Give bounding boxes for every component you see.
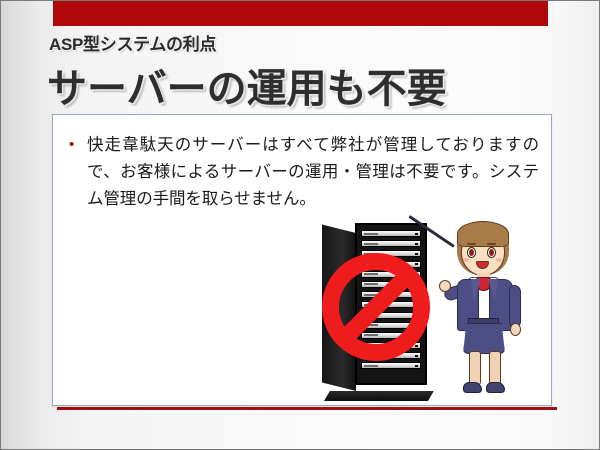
presenter-right-hand (439, 280, 451, 292)
slide-main-title: サーバーの運用も不要 (47, 56, 447, 114)
prohibition-diagonal-bar (332, 263, 420, 351)
presenter-shoe-left (463, 382, 482, 393)
bullet-list-item: • 快走韋駄天のサーバーはすべて弊社が管理しておりますので、お客様によるサーバー… (69, 131, 539, 212)
body-paragraph: 快走韋駄天のサーバーはすべて弊社が管理しておりますので、お客様によるサーバーの運… (87, 131, 539, 212)
prohibition-sign-icon (322, 253, 430, 361)
presenter-cheek-left (463, 258, 469, 262)
server-unit (361, 362, 421, 369)
woman-presenter-illustration (438, 219, 534, 399)
presenter-leg-left (469, 351, 481, 385)
server-unit (361, 240, 421, 247)
slide-eyebrow-title: ASP型システムの利点 (49, 30, 216, 55)
server-unit (361, 230, 421, 237)
presenter-cheek-right (496, 258, 502, 262)
content-panel: • 快走韋駄天のサーバーはすべて弊社が管理しておりますので、お客様によるサーバー… (52, 114, 552, 406)
server-rack-icon (322, 223, 430, 395)
bullet-point-icon: • (69, 131, 87, 212)
illustration-group (318, 219, 548, 399)
presenter-leg-right (489, 351, 501, 385)
presenter-skirt (463, 323, 505, 354)
presenter-left-hand (510, 323, 521, 336)
presenter-pupil-left (469, 249, 474, 256)
presenter-eyebrow-right (487, 243, 496, 245)
presenter-left-arm (509, 285, 521, 327)
presenter-pupil-right (489, 249, 494, 256)
presentation-slide: ASP型システムの利点 サーバーの運用も不要 • 快走韋駄天のサーバーはすべて弊… (0, 0, 600, 450)
presenter-shoe-right (486, 382, 505, 393)
presenter-eyebrow-left (467, 243, 476, 245)
header-red-banner (53, 1, 548, 26)
server-rack-base (324, 391, 434, 401)
content-accent-underline (57, 407, 557, 410)
